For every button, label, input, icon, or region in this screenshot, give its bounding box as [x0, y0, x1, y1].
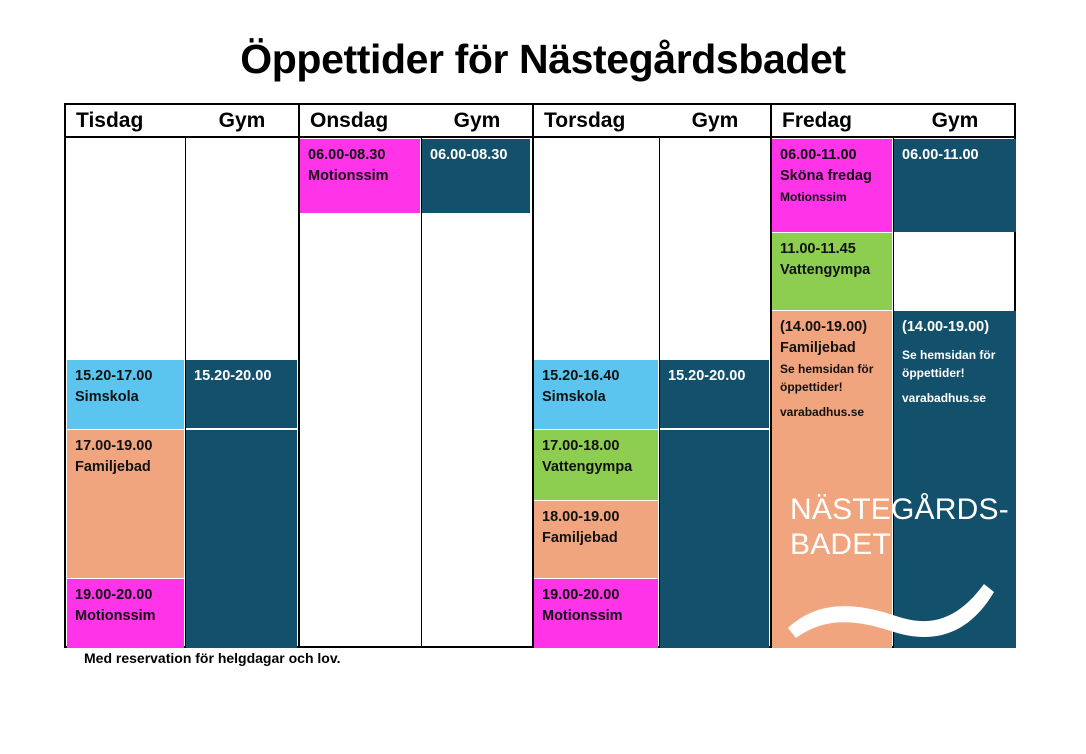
- entry-time: 15.20-20.00: [668, 366, 762, 387]
- entry-name: Motionssim: [308, 166, 413, 187]
- column-header-fredag: Fredag: [772, 105, 894, 136]
- entry-torsdag-familjebad[interactable]: 18.00-19.00 Familjebad: [534, 501, 658, 578]
- entry-fredag-gym-afternoon[interactable]: (14.00-19.00) Se hemsidan för öppettider…: [894, 311, 1016, 648]
- entry-name: Motionssim: [542, 606, 651, 627]
- entry-fredag-skona-fredag[interactable]: 06.00-11.00 Sköna fredag Motionssim: [772, 139, 892, 232]
- column-divider-3: [770, 105, 772, 648]
- entry-name: Familjebad: [780, 338, 885, 359]
- entry-time: 06.00-11.00: [902, 145, 1009, 166]
- column-header-torsdag-gym: Gym: [660, 105, 770, 136]
- subcolumn-divider-onsdag: [421, 138, 422, 648]
- page-title: Öppettider för Nästegårdsbadet: [0, 36, 1086, 83]
- entry-fredag-vattengympa[interactable]: 11.00-11.45 Vattengympa: [772, 233, 892, 310]
- entry-tisdag-familjebad[interactable]: 17.00-19.00 Familjebad: [67, 430, 184, 578]
- entry-name: Vattengympa: [542, 457, 651, 478]
- entry-name: Familjebad: [542, 528, 651, 549]
- entry-torsdag-gym-open[interactable]: 15.20-20.00: [660, 360, 769, 428]
- column-header-onsdag: Onsdag: [300, 105, 422, 136]
- entry-name: Sköna fredag: [780, 166, 885, 187]
- entry-onsdag-gym-open[interactable]: 06.00-08.30: [422, 139, 530, 213]
- entry-subname: Motionssim: [780, 189, 885, 205]
- entry-note-line2: öppettider!: [780, 379, 885, 395]
- entry-time: 19.00-20.00: [542, 585, 651, 606]
- entry-time: (14.00-19.00): [780, 317, 885, 338]
- entry-torsdag-vattengympa[interactable]: 17.00-18.00 Vattengympa: [534, 430, 658, 500]
- entry-onsdag-motionssim[interactable]: 06.00-08.30 Motionssim: [300, 139, 420, 213]
- entry-time: 15.20-20.00: [194, 366, 290, 387]
- entry-fredag-gym-morning[interactable]: 06.00-11.00: [894, 139, 1016, 232]
- column-divider-1: [298, 105, 300, 648]
- entry-time: 15.20-16.40: [542, 366, 651, 387]
- entry-time: 19.00-20.00: [75, 585, 177, 606]
- entry-torsdag-gym-open-continued[interactable]: [660, 430, 769, 648]
- entry-time: (14.00-19.00): [902, 317, 1009, 338]
- entry-time: 06.00-08.30: [308, 145, 413, 166]
- entry-tisdag-motionssim[interactable]: 19.00-20.00 Motionssim: [67, 579, 184, 648]
- entry-time: 17.00-19.00: [75, 436, 177, 457]
- entry-name: Motionssim: [75, 606, 177, 627]
- entry-name: Vattengympa: [780, 260, 885, 281]
- column-header-torsdag: Torsdag: [534, 105, 660, 136]
- entry-website[interactable]: varabadhus.se: [902, 390, 1009, 406]
- entry-name: Simskola: [75, 387, 177, 408]
- entry-tisdag-gym-open-continued[interactable]: [186, 430, 297, 648]
- schedule-table: Tisdag Gym Onsdag Gym Torsdag Gym Fredag…: [64, 103, 1016, 648]
- entry-time: 15.20-17.00: [75, 366, 177, 387]
- column-divider-2: [532, 105, 534, 648]
- entry-time: 06.00-11.00: [780, 145, 885, 166]
- entry-name: Familjebad: [75, 457, 177, 478]
- entry-name: Simskola: [542, 387, 651, 408]
- footer-note: Med reservation för helgdagar och lov.: [84, 650, 340, 666]
- entry-website[interactable]: varabadhus.se: [780, 404, 885, 420]
- table-header-row: Tisdag Gym Onsdag Gym Torsdag Gym Fredag…: [66, 105, 1014, 138]
- schedule-page: Öppettider för Nästegårdsbadet Tisdag Gy…: [0, 0, 1086, 754]
- entry-tisdag-simskola[interactable]: 15.20-17.00 Simskola: [67, 360, 184, 429]
- column-header-tisdag: Tisdag: [66, 105, 186, 136]
- entry-note-line1: Se hemsidan för: [902, 347, 1009, 363]
- entry-time: 11.00-11.45: [780, 239, 885, 260]
- entry-torsdag-motionssim[interactable]: 19.00-20.00 Motionssim: [534, 579, 658, 648]
- column-header-tisdag-gym: Gym: [186, 105, 298, 136]
- column-header-onsdag-gym: Gym: [422, 105, 532, 136]
- entry-time: 18.00-19.00: [542, 507, 651, 528]
- entry-note-line1: Se hemsidan för: [780, 361, 885, 377]
- entry-torsdag-simskola[interactable]: 15.20-16.40 Simskola: [534, 360, 658, 429]
- entry-time: 17.00-18.00: [542, 436, 651, 457]
- column-header-fredag-gym: Gym: [894, 105, 1016, 136]
- entry-note-line2: öppettider!: [902, 365, 1009, 381]
- entry-fredag-familjebad[interactable]: (14.00-19.00) Familjebad Se hemsidan för…: [772, 311, 892, 648]
- entry-tisdag-gym-open[interactable]: 15.20-20.00: [186, 360, 297, 428]
- entry-time: 06.00-08.30: [430, 145, 523, 166]
